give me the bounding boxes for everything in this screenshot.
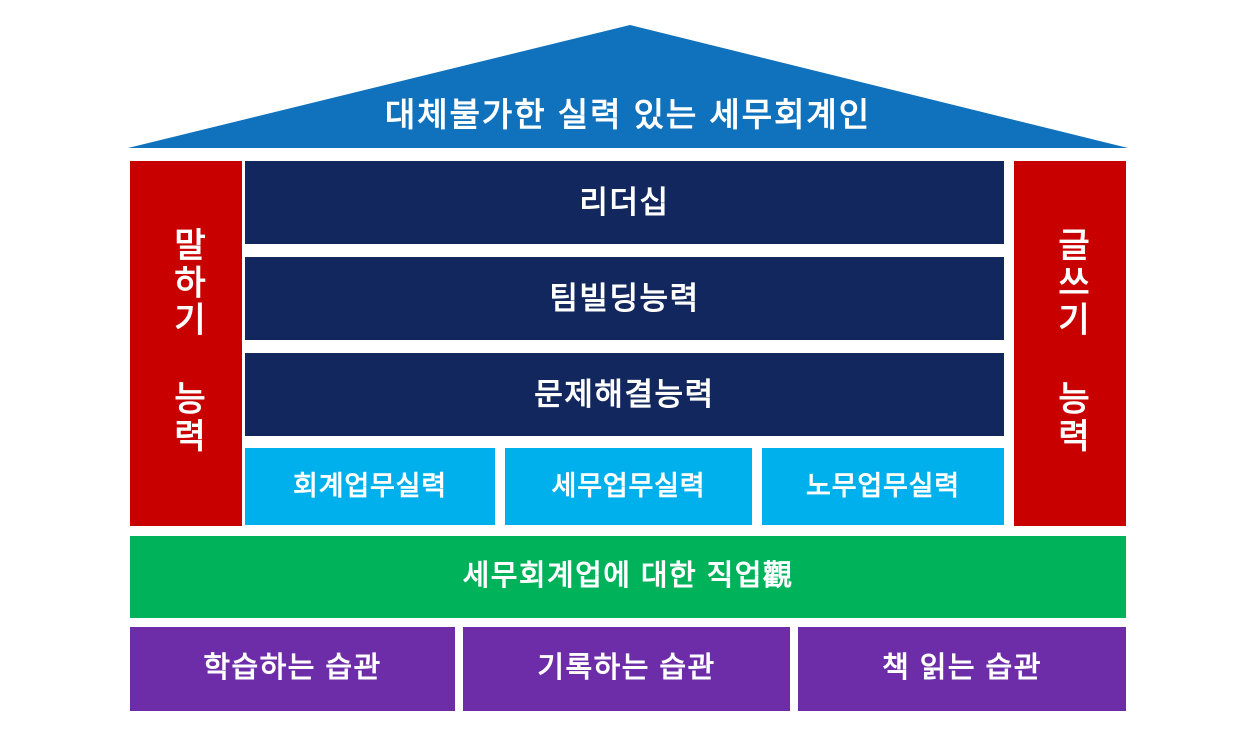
house-diagram: 대체불가한 실력 있는 세무회계인 말하기 능력 글쓰기 능력 리더십 팀빌딩능… [0,0,1254,746]
habit-box-learning: 학습하는 습관 [130,627,455,711]
core-bar-teambuilding: 팀빌딩능력 [245,257,1004,340]
habit-box-reading: 책 읽는 습관 [798,627,1126,711]
roof-triangle: 대체불가한 실력 있는 세무회계인 [0,0,1254,152]
core-bar-leadership: 리더십 [245,161,1004,244]
pillar-right-writing: 글쓰기 능력 [1014,161,1126,526]
skill-box-accounting: 회계업무실력 [245,448,495,525]
pillar-left-speaking: 말하기 능력 [130,161,242,526]
skill-box-tax: 세무업무실력 [505,448,752,525]
habit-box-recording: 기록하는 습관 [463,627,790,711]
core-bar-problem-solving: 문제해결능력 [245,353,1004,436]
skill-box-labor: 노무업무실력 [762,448,1004,525]
foundation-bar-work-philosophy: 세무회계업에 대한 직업觀 [130,536,1126,618]
